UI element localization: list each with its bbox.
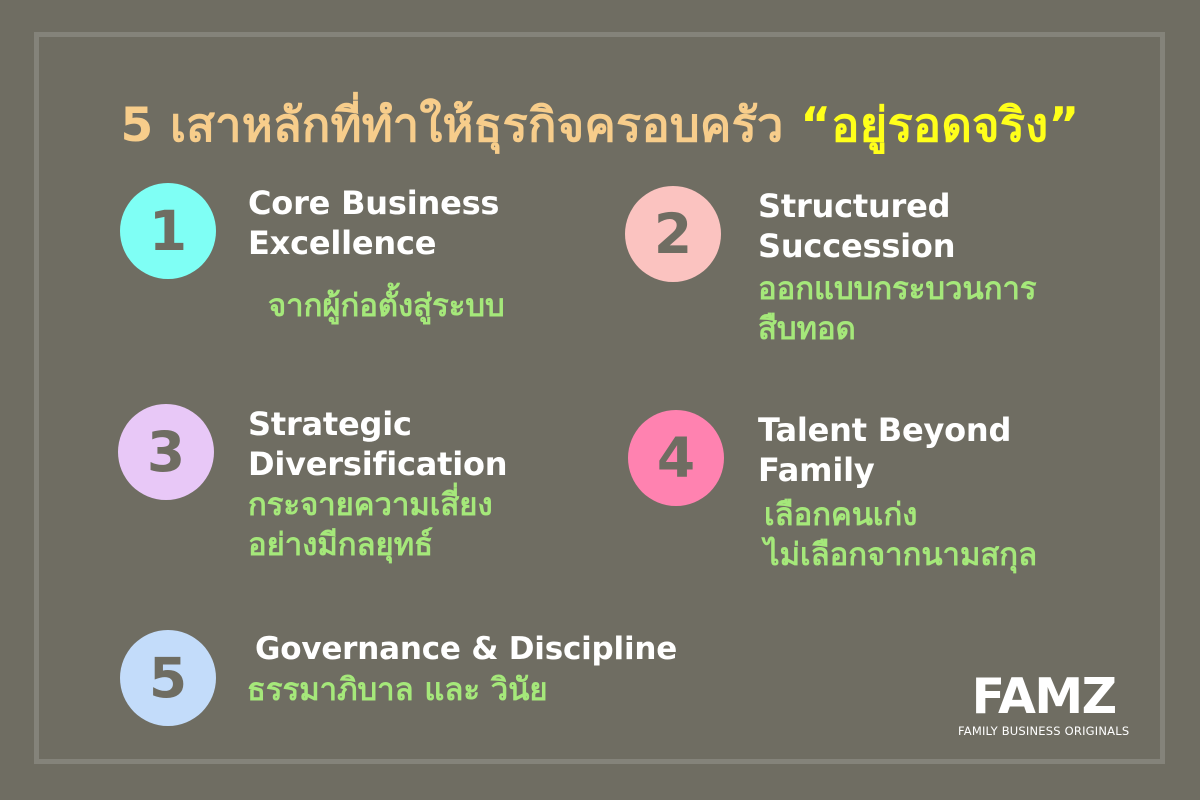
pillar-title-en-4: Talent Beyond Family <box>758 410 1037 491</box>
pillar-number-badge-2: 2 <box>625 186 721 282</box>
pillar-body-5: Governance & Discipline ธรรมาภิบาล และ ว… <box>255 630 677 710</box>
pillar-title-en-1: Core Business Excellence <box>248 183 505 264</box>
pillar-title-en-5: Governance & Discipline <box>255 630 677 669</box>
pillar-subtitle-th-2: ออกแบบกระบวนการ สืบทอด <box>758 269 1037 350</box>
pillar-subtitle-th-5: ธรรมาภิบาล และ วินัย <box>247 670 677 710</box>
pillar-body-4: Talent Beyond Family เลือกคนเก่ง ไม่เลือ… <box>758 410 1037 575</box>
pillar-subtitle-th-1: จากผู้ก่อตั้งสู่ระบบ <box>268 286 505 326</box>
page-title-lead: 5 เสาหลักที่ทำให้ธุรกิจครอบครัว <box>121 98 801 153</box>
logo-tagline: FAMILY BUSINESS ORIGINALS <box>958 726 1129 738</box>
pillar-number-badge-3: 3 <box>118 404 214 500</box>
pillar-title-en-3: Strategic Diversification <box>248 404 507 485</box>
pillar-number-3: 3 <box>147 425 185 480</box>
pillar-number-badge-4: 4 <box>628 410 724 506</box>
pillar-body-1: Core Business Excellence จากผู้ก่อตั้งสู… <box>248 183 505 326</box>
pillar-subtitle-th-3: กระจายความเสี่ยง อย่างมีกลยุทธ์ <box>248 485 507 566</box>
pillar-number-badge-1: 1 <box>120 183 216 279</box>
pillar-number-1: 1 <box>149 204 187 259</box>
pillar-number-badge-5: 5 <box>120 630 216 726</box>
pillar-title-en-2: Structured Succession <box>758 186 1037 267</box>
pillar-number-4: 4 <box>657 431 695 486</box>
pillar-body-2: Structured Succession ออกแบบกระบวนการ สื… <box>758 186 1037 349</box>
page-title: 5 เสาหลักที่ทำให้ธุรกิจครอบครัว “อยู่รอด… <box>0 99 1200 153</box>
pillar-body-3: Strategic Diversification กระจายความเสี่… <box>248 404 507 565</box>
logo-wordmark: FAMZ <box>958 672 1129 721</box>
pillar-subtitle-th-4: เลือกคนเก่ง ไม่เลือกจากนามสกุล <box>764 495 1037 576</box>
page-title-quoted: “อยู่รอดจริง” <box>800 98 1079 153</box>
pillar-number-2: 2 <box>654 207 692 262</box>
famz-logo: FAMZ FAMILY BUSINESS ORIGINALS <box>958 672 1129 738</box>
infographic-poster: 5 เสาหลักที่ทำให้ธุรกิจครอบครัว “อยู่รอด… <box>0 0 1200 800</box>
pillar-number-5: 5 <box>149 651 187 706</box>
